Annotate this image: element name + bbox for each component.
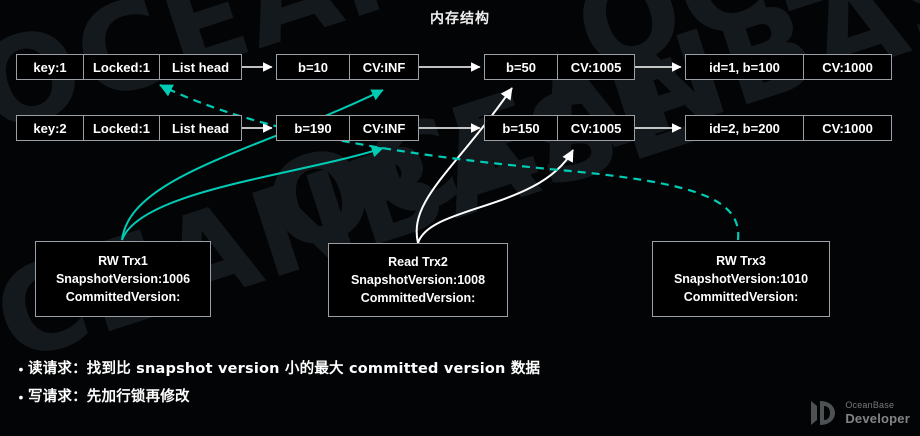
- trx2-title: Read Trx2: [388, 253, 448, 271]
- row-1-inf-value-cell: b=10: [277, 55, 349, 79]
- row-1-locked-cell: Locked:1: [83, 55, 159, 79]
- logo-line2: Developer: [845, 412, 910, 425]
- row-2-inf-value-cell: b=190: [277, 116, 349, 140]
- bullet-marker-icon: •: [14, 358, 28, 380]
- bullet-marker-icon: •: [14, 386, 28, 408]
- list-item: • 读请求：找到比 snapshot version 小的最大 committe…: [14, 358, 540, 380]
- trx1-to-row2-cvinf: [122, 148, 383, 240]
- trx2-edges: [417, 88, 573, 243]
- row-1-version-1005[interactable]: b=50 CV:1005: [484, 54, 635, 80]
- trx2-snapshot-version: SnapshotVersion:1008: [351, 271, 485, 289]
- row-2-locked-cell: Locked:1: [83, 116, 159, 140]
- row-1-1000-value-cell: id=1, b=100: [686, 55, 803, 79]
- row-2-head-node[interactable]: key:2 Locked:1 List head: [16, 115, 242, 141]
- transaction-box-trx3[interactable]: RW Trx3 SnapshotVersion:1010 CommittedVe…: [652, 241, 830, 317]
- page-title: 内存结构: [0, 8, 920, 28]
- row-1-listhead-cell: List head: [159, 55, 241, 79]
- bullet-list: • 读请求：找到比 snapshot version 小的最大 committe…: [14, 358, 540, 414]
- trx2-to-row1-cv1005: [417, 88, 512, 243]
- row-2-1000-cv-cell: CV:1000: [803, 116, 891, 140]
- row-1-version-1000[interactable]: id=1, b=100 CV:1000: [685, 54, 892, 80]
- trx3-title: RW Trx3: [716, 252, 766, 270]
- row-2-1005-value-cell: b=150: [485, 116, 557, 140]
- row-2-1005-cv-cell: CV:1005: [557, 116, 634, 140]
- logo-line1: OceanBase: [845, 401, 910, 410]
- trx3-committed-version: CommittedVersion:: [684, 288, 799, 306]
- logo-text: OceanBase Developer: [845, 401, 910, 425]
- list-item: • 写请求：先加行锁再修改: [14, 386, 540, 408]
- transaction-box-trx1[interactable]: RW Trx1 SnapshotVersion:1006 CommittedVe…: [35, 241, 211, 317]
- row-1-1005-cv-cell: CV:1005: [557, 55, 634, 79]
- slide-canvas: OCEANBASE OCEANBASE OCEANBASE OCEANBASE …: [0, 0, 920, 436]
- bullet-text: 读请求：找到比 snapshot version 小的最大 committed …: [28, 358, 540, 380]
- trx1-to-row1-cvinf: [122, 90, 383, 240]
- row-1-key-cell: key:1: [17, 55, 83, 79]
- trx3-to-row1-locked: [160, 85, 738, 240]
- oceanbase-developer-logo: OceanBase Developer: [808, 398, 910, 428]
- row-1-version-inf[interactable]: b=10 CV:INF: [276, 54, 419, 80]
- trx3-edges: [160, 85, 738, 240]
- trx1-snapshot-version: SnapshotVersion:1006: [56, 270, 190, 288]
- row-2-version-1005[interactable]: b=150 CV:1005: [484, 115, 635, 141]
- row-1-head-node[interactable]: key:1 Locked:1 List head: [16, 54, 242, 80]
- row-1-inf-cv-cell: CV:INF: [349, 55, 418, 79]
- trx3-snapshot-version: SnapshotVersion:1010: [674, 270, 808, 288]
- trx1-title: RW Trx1: [98, 252, 148, 270]
- row-2-listhead-cell: List head: [159, 116, 241, 140]
- oceanbase-mark-icon: [808, 398, 838, 428]
- row-1-1005-value-cell: b=50: [485, 55, 557, 79]
- row-2-key-cell: key:2: [17, 116, 83, 140]
- row-2-1000-value-cell: id=2, b=200: [686, 116, 803, 140]
- bullet-text: 写请求：先加行锁再修改: [28, 386, 190, 408]
- trx1-committed-version: CommittedVersion:: [66, 288, 181, 306]
- row-2-version-1000[interactable]: id=2, b=200 CV:1000: [685, 115, 892, 141]
- row-1-1000-cv-cell: CV:1000: [803, 55, 891, 79]
- row-2-inf-cv-cell: CV:INF: [349, 116, 418, 140]
- transaction-box-trx2[interactable]: Read Trx2 SnapshotVersion:1008 Committed…: [328, 243, 508, 317]
- trx2-committed-version: CommittedVersion:: [361, 289, 476, 307]
- trx1-edges: [122, 90, 383, 240]
- row-2-version-inf[interactable]: b=190 CV:INF: [276, 115, 419, 141]
